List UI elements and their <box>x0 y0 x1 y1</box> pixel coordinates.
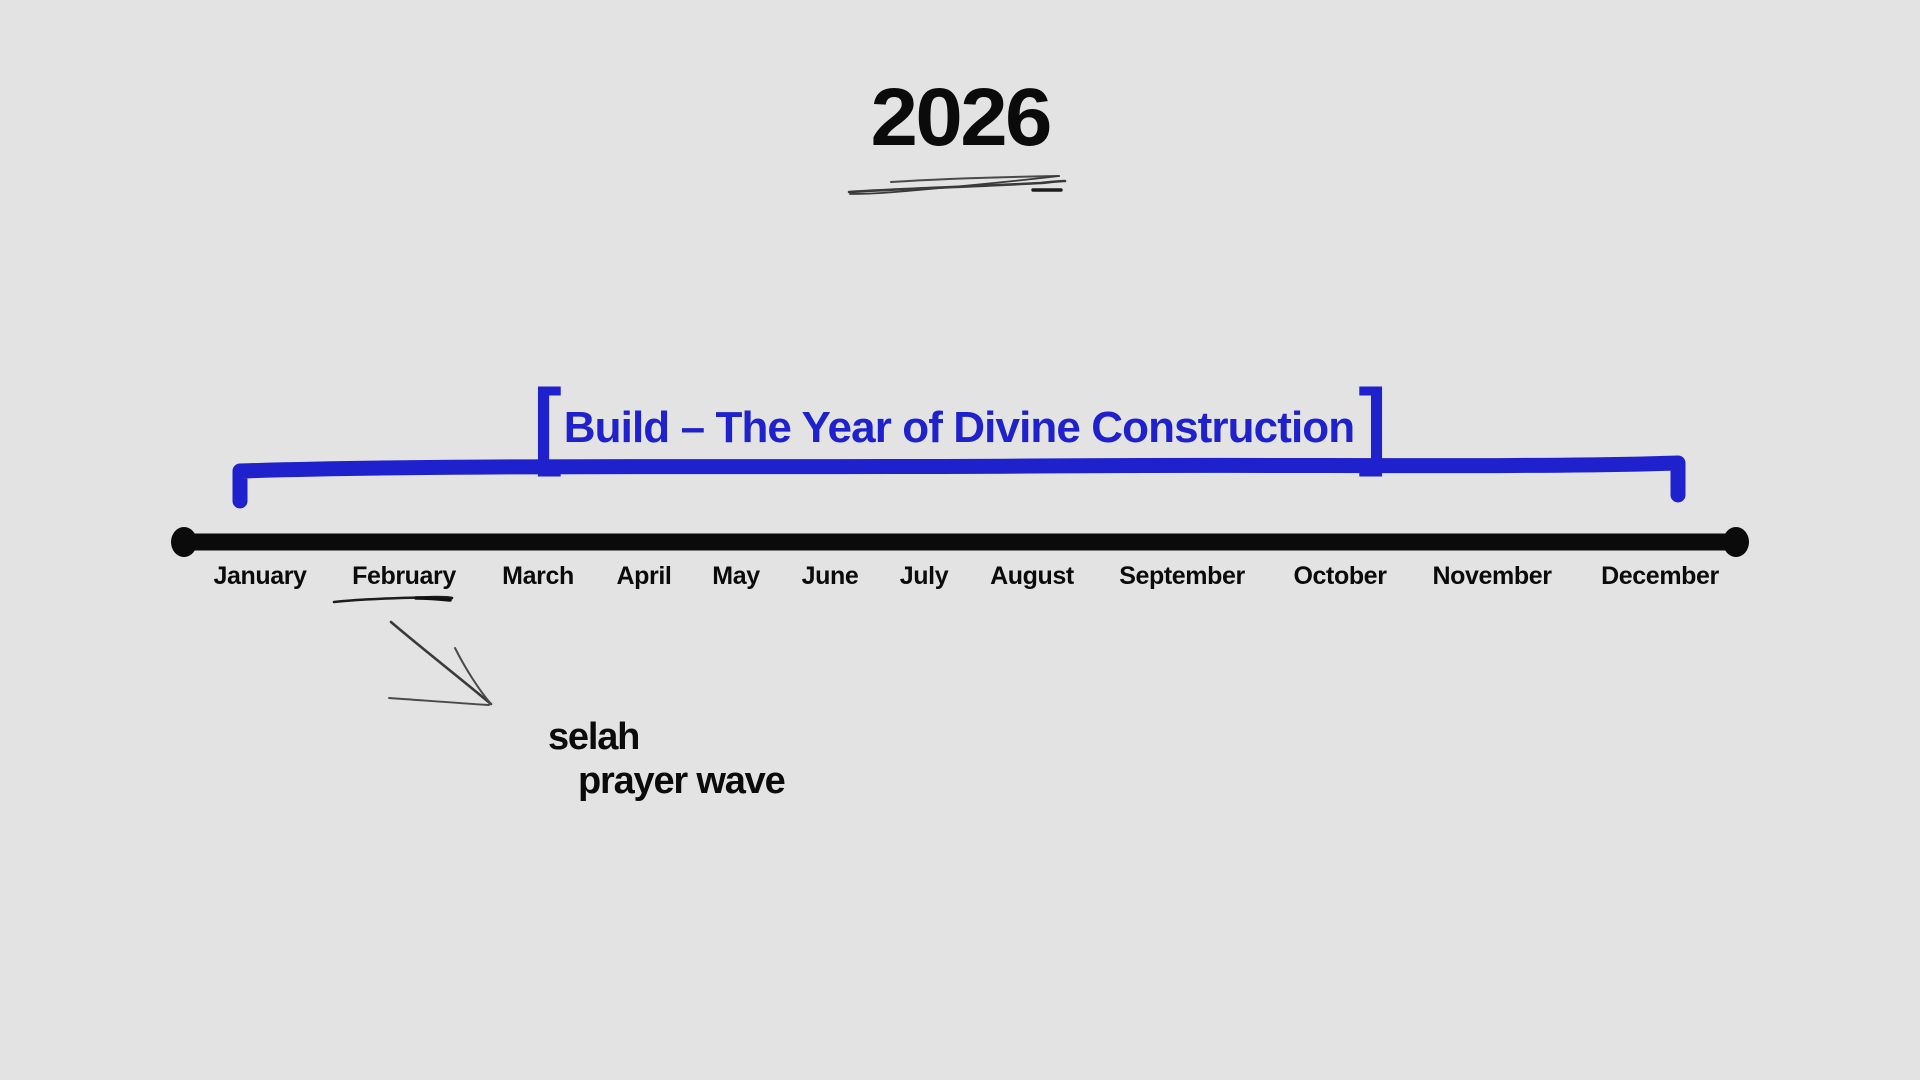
headline-text: Build – The Year of Divine Construction <box>564 406 1354 450</box>
timeline-axis-icon <box>170 525 1750 559</box>
year-heading-block: 2026 <box>0 78 1920 158</box>
annotation-line-2: prayer wave <box>578 762 785 802</box>
page-title-year: 2026 <box>870 78 1049 158</box>
month-label-august[interactable]: August <box>990 562 1074 591</box>
month-label-april[interactable]: April <box>617 562 672 591</box>
month-label-january[interactable]: January <box>213 562 306 591</box>
annotation-line-1: selah <box>548 718 785 758</box>
month-label-march[interactable]: March <box>502 562 574 591</box>
slide-canvas: 2026 [Build – The Year of Divine Constru… <box>0 0 1920 1080</box>
bracket-left-icon: [ <box>533 376 562 472</box>
month-label-december[interactable]: December <box>1601 562 1719 591</box>
headline-row: [Build – The Year of Divine Construction… <box>0 385 1920 471</box>
hand-drawn-arrow-icon <box>385 612 545 732</box>
annotation-block: selah prayer wave <box>548 718 785 802</box>
scribble-underline-icon <box>845 168 1075 202</box>
month-label-september[interactable]: September <box>1119 562 1245 591</box>
month-label-may[interactable]: May <box>712 562 759 591</box>
month-label-row: January February March April May June Ju… <box>190 562 1740 610</box>
month-label-november[interactable]: November <box>1432 562 1551 591</box>
month-label-october[interactable]: October <box>1293 562 1386 591</box>
month-label-february[interactable]: February <box>352 562 456 591</box>
month-label-july[interactable]: July <box>900 562 948 591</box>
month-label-june[interactable]: June <box>802 562 859 591</box>
bracket-right-icon: ] <box>1358 376 1387 472</box>
